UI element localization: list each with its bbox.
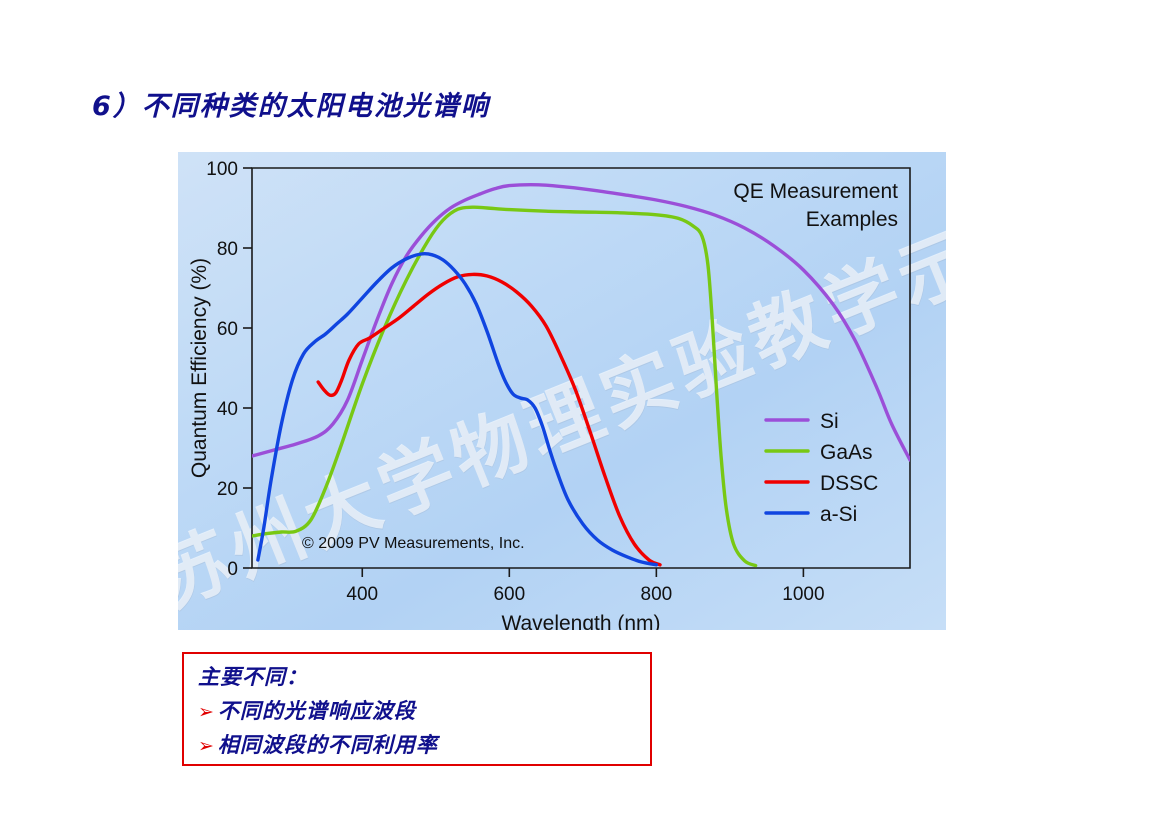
series-line-dssc (318, 274, 660, 564)
series-line-gaas (252, 207, 756, 565)
x-tick-label: 400 (346, 584, 378, 605)
x-tick-label: 1000 (782, 584, 824, 605)
callout-item-0-label: 不同的光谱响应波段 (218, 699, 416, 723)
arrow-bullet-icon: ➢ (198, 735, 215, 757)
series-line-a-si (258, 254, 656, 565)
y-tick-label: 0 (227, 559, 238, 580)
page-title: 6）不同种类的太阳电池光谱响 (92, 84, 490, 123)
arrow-bullet-icon: ➢ (198, 701, 215, 723)
slide-canvas: 6）不同种类的太阳电池光谱响 苏州大学物理实验教学示范中心 0204060801… (0, 0, 1158, 819)
y-tick-label: 40 (217, 399, 238, 420)
x-axis-title: Wavelength (nm) (501, 612, 660, 630)
chart-note-line-2: Examples (806, 208, 898, 231)
y-tick-label: 100 (206, 159, 238, 180)
legend-label-si: Si (820, 410, 839, 433)
y-tick-label: 80 (217, 239, 238, 260)
callout-item-1-label: 相同波段的不同利用率 (218, 733, 438, 757)
chart-series (252, 185, 910, 566)
copyright-text: © 2009 PV Measurements, Inc. (302, 535, 525, 552)
callout-item-1: ➢相同波段的不同利用率 (198, 729, 438, 759)
qe-chart: 0204060801004006008001000Wavelength (nm)… (178, 152, 946, 630)
y-tick-label: 60 (217, 319, 238, 340)
legend-label-dssc: DSSC (820, 472, 878, 495)
x-tick-label: 600 (493, 584, 525, 605)
legend-label-a-si: a-Si (820, 503, 857, 526)
chart-note-line-1: QE Measurement (733, 180, 898, 203)
callout-item-0: ➢不同的光谱响应波段 (198, 695, 416, 725)
legend-label-gaas: GaAs (820, 441, 873, 464)
y-tick-label: 20 (217, 479, 238, 500)
callout-heading: 主要不同： (198, 661, 308, 691)
x-tick-label: 800 (641, 584, 673, 605)
chart-legend: SiGaAsDSSCa-Si (766, 410, 878, 526)
qe-chart-svg: 0204060801004006008001000Wavelength (nm)… (178, 152, 946, 630)
chart-labels: 0204060801004006008001000Wavelength (nm)… (188, 159, 898, 630)
callout-box: 主要不同： ➢不同的光谱响应波段 ➢相同波段的不同利用率 (182, 652, 652, 766)
y-axis-title: Quantum Efficiency (%) (188, 258, 211, 478)
figure-panel: 苏州大学物理实验教学示范中心 0204060801004006008001000… (178, 152, 946, 630)
